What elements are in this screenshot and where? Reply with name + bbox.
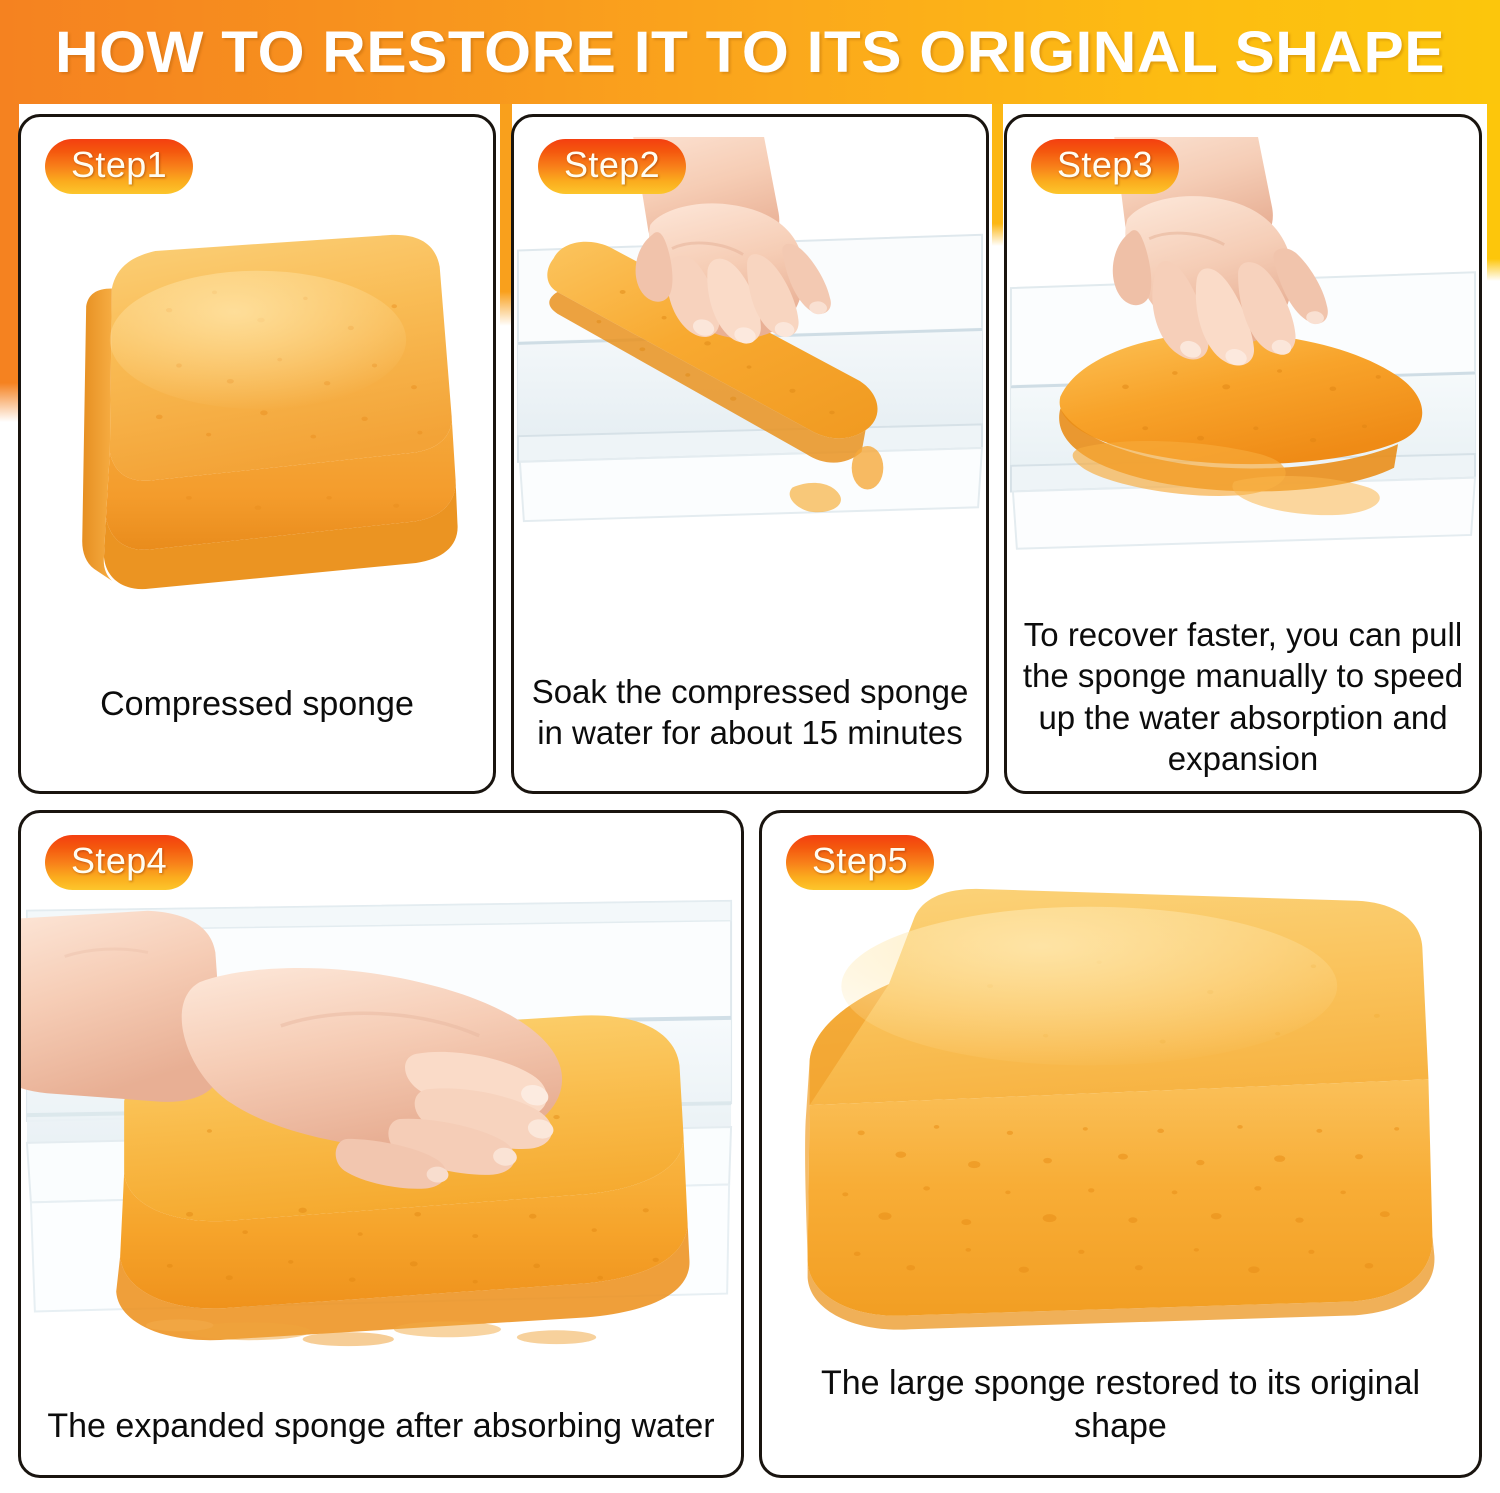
page-title: HOW TO RESTORE IT TO ITS ORIGINAL SHAPE bbox=[0, 0, 1500, 104]
step-card-2: Step2 Soak the compressed sponge in wate… bbox=[511, 114, 989, 794]
step-caption-4: The expanded sponge after absorbing wate… bbox=[21, 1405, 741, 1448]
step-caption-1: Compressed sponge bbox=[21, 683, 493, 726]
steps-grid: Step1 Compressed sponge bbox=[0, 0, 1500, 1493]
step-4-illustration bbox=[21, 885, 741, 1365]
step-card-5: Step5 The large sponge restored to its o… bbox=[759, 810, 1482, 1478]
step-badge-3: Step3 bbox=[1031, 139, 1179, 194]
step-card-1: Step1 Compressed sponge bbox=[18, 114, 496, 794]
step-1-illustration bbox=[21, 169, 493, 639]
step-badge-5: Step5 bbox=[786, 835, 934, 890]
step-badge-1: Step1 bbox=[45, 139, 193, 194]
step-5-illustration bbox=[762, 865, 1479, 1365]
step-caption-5: The large sponge restored to its origina… bbox=[762, 1362, 1479, 1447]
step-card-4: Step4 The expanded sponge after absorbin… bbox=[18, 810, 744, 1478]
step-card-3: Step3 To recover faster, you can pull th… bbox=[1004, 114, 1482, 794]
step-caption-3: To recover faster, you can pull the spon… bbox=[1007, 614, 1479, 779]
step-badge-2: Step2 bbox=[538, 139, 686, 194]
step-3-illustration bbox=[1007, 137, 1479, 607]
step-caption-2: Soak the compressed sponge in water for … bbox=[514, 671, 986, 754]
step-2-illustration bbox=[514, 137, 986, 607]
step-badge-4: Step4 bbox=[45, 835, 193, 890]
